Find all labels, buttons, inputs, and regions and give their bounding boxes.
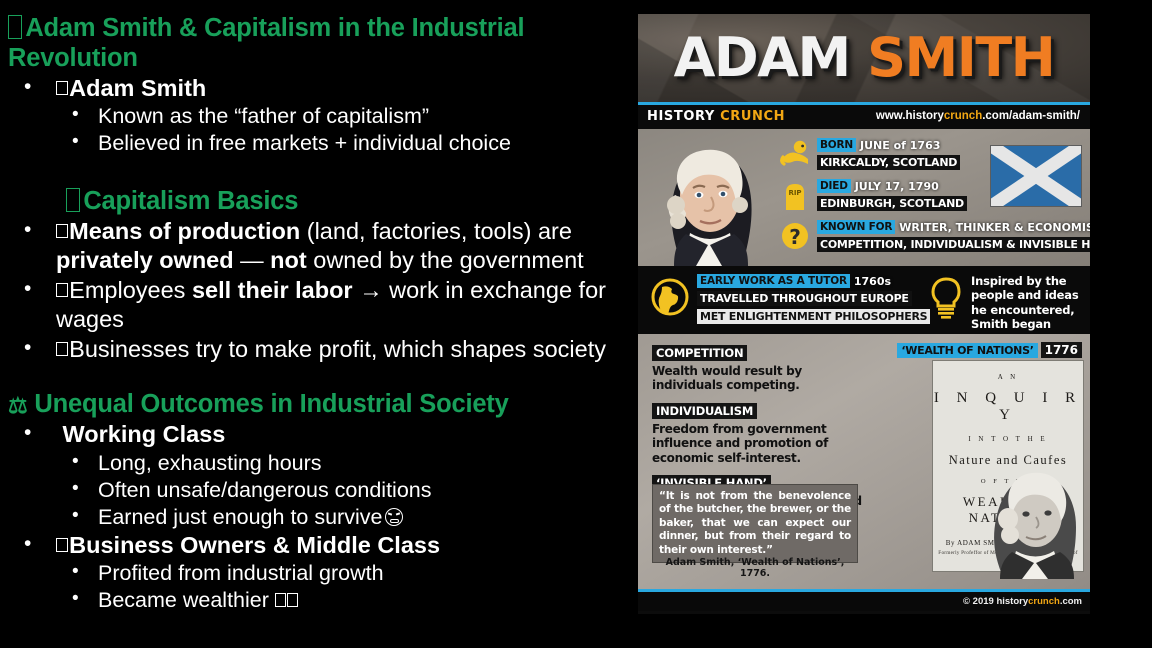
bullet-label: Businesses try to make profit, which sha… [69,336,606,362]
fact-born-tag: BORN [817,138,856,152]
bullet-marker: • [24,74,52,103]
book-year-tag: 1776 [1041,342,1082,358]
bullet-label: Became wealthier [98,588,269,612]
fact-known-tag: KNOWN FOR [817,220,895,234]
url-accent: crunch [944,110,982,122]
missing-glyph-icon [66,188,80,212]
slide-root: Adam Smith & Capitalism in the Industria… [0,0,1152,648]
bullet-level1: • Employees sell their labor → work in e… [24,276,608,335]
infographic-footer: © 2019 historycrunch.com [638,589,1090,611]
section-heading-2: Capitalism Basics [8,187,608,217]
bullet-label: Working Class [63,421,226,447]
fact-known-for: ? KNOWN FOR WRITER, THINKER & ECONOMIST … [778,219,986,253]
fact-known-lines: KNOWN FOR WRITER, THINKER & ECONOMIST CO… [817,219,1090,253]
fact-born-lines: BORN JUNE of 1763 KIRKCALDY, SCOTLAND [817,137,986,171]
bullet-text: Businesses try to make profit, which sha… [52,335,608,364]
adam-smith-portrait [642,133,774,266]
book-inquiry: I N Q U I R Y [933,390,1083,424]
dizzy-face-emoji [385,508,403,526]
early-work-line3-wrap: MET ENLIGHTENMENT PHILOSOPHERS [697,307,915,325]
bullet-label: Believed in free markets + individual ch… [98,130,608,157]
fact-died-lines: DIED JULY 17, 1790 EDINBURGH, SCOTLAND [817,178,986,212]
bullet-level1: • Businesses try to make profit, which s… [24,335,608,364]
missing-glyph-icon [56,283,68,298]
bullet-text: Adam Smith [52,74,608,103]
spacer [8,157,608,187]
bullet-marker: • [24,276,52,335]
infographic-title: ADAM SMITH [638,14,1090,102]
title-word-orange: SMITH [867,26,1054,89]
bullet-label: Known as the “father of capitalism” [98,103,608,130]
missing-glyph-icon [56,81,68,96]
early-work-band: EARLY WORK AS A TUTOR 1760s TRAVELLED TH… [638,266,1090,334]
bullet-level1: • Adam Smith [24,74,608,103]
early-work-line2: TRAVELLED THROUGHOUT EUROPE [697,291,912,306]
adam-smith-engraving [964,461,1084,579]
bullet-level2-clipped: • Became wealthier [72,587,608,614]
book-an: A N [933,373,1083,381]
fact-known-detail: COMPETITION, INDIVIDUALISM & INVISIBLE H… [817,237,1090,252]
bullet-marker: • [72,560,98,587]
early-work-line3: MET ENLIGHTENMENT PHILOSOPHERS [697,309,930,324]
missing-glyph-icon [56,342,68,357]
fact-born-detail: KIRKCALDY, SCOTLAND [817,155,960,170]
early-work-row: EARLY WORK AS A TUTOR 1760s [697,274,915,288]
infographic-title-band: ADAM SMITH [638,14,1090,102]
bullet-level2: • Believed in free markets + individual … [72,130,608,157]
bullet-text: Became wealthier [98,587,608,614]
quote-attribution: Adam Smith, ‘Wealth of Nations’, 1776. [652,557,858,579]
bullet-level2: • Known as the “father of capitalism” [72,103,608,130]
brand-second: CRUNCH [720,109,785,124]
question-mark-icon: ? [778,219,812,253]
section-heading-1-label: Adam Smith & Capitalism in the Industria… [8,14,524,72]
bullet-text: Employees sell their labor → work in exc… [52,276,608,335]
bullet-marker: • [24,217,52,276]
early-work-lines: EARLY WORK AS A TUTOR 1760s TRAVELLED TH… [697,274,915,325]
bullet-label: Profited from industrial growth [98,560,608,587]
missing-glyph-icon [8,15,22,39]
missing-glyph-icon [56,224,68,239]
book-title-tag: ‘WEALTH OF NATIONS’ [897,343,1037,358]
fact-died-tag: DIED [817,179,851,193]
bullet-level2: • Profited from industrial growth [72,560,608,587]
copyright-suffix: .com [1060,596,1082,607]
section-heading-1: Adam Smith & Capitalism in the Industria… [8,14,608,74]
bullet-label: Means of production (land, factories, to… [56,218,584,273]
bullet-text: Working Class [52,420,608,449]
spacer [8,364,608,390]
bullet-level2: • Often unsafe/dangerous conditions [72,477,608,504]
bullet-text: Business Owners & Middle Class [52,531,608,560]
svg-text:?: ? [789,225,801,249]
ideas-band: COMPETITION Wealth would result by indiv… [638,334,1090,589]
book-into-the: I N T O T H E [933,435,1083,443]
fact-born-row: BORN JUNE of 1763 [817,138,986,152]
globe-icon [650,277,690,317]
bullet-marker: • [24,335,52,364]
source-url: www.historycrunch.com/adam-smith/ [876,110,1080,122]
fact-known-value: WRITER, THINKER & ECONOMIST [899,221,1090,234]
bullet-level1: • Business Owners & Middle Class [24,531,608,560]
url-prefix: www.history [876,110,944,122]
bullet-label: Often unsafe/dangerous conditions [98,477,608,504]
bullet-text: Earned just enough to survive [98,504,608,531]
missing-glyph-icon [275,593,286,606]
concept-individualism-body: Freedom from government influence and pr… [652,422,872,465]
section-heading-3: ⚖ Unequal Outcomes in Industrial Society [8,390,608,420]
bullet-marker: • [72,103,98,130]
concept-individualism: INDIVIDUALISM Freedom from government in… [652,402,872,465]
brand-first: HISTORY [647,109,715,124]
facts-list: BORN JUNE of 1763 KIRKCALDY, SCOTLAND RI… [778,137,986,260]
biography-band: BORN JUNE of 1763 KIRKCALDY, SCOTLAND RI… [638,129,1090,266]
bullet-level1: • Working Class [24,420,608,449]
bullet-level2: • Long, exhausting hours [72,450,608,477]
missing-glyph-icon [56,538,68,553]
bullet-level2: • Earned just enough to survive [72,504,608,531]
fact-died: RIP DIED JULY 17, 1790 EDINBURGH, SCOTLA… [778,178,986,212]
bullet-marker: • [72,587,98,614]
fact-known-row: KNOWN FOR WRITER, THINKER & ECONOMIST [817,220,1090,234]
early-work-line2-wrap: TRAVELLED THROUGHOUT EUROPE [697,289,915,307]
baby-icon [778,137,812,171]
infographic-image: ADAM SMITH HISTORY CRUNCH www.historycru… [638,14,1090,614]
emoji-mouth [390,519,399,523]
bullet-text: Means of production (land, factories, to… [52,217,608,276]
fact-born-value: JUNE of 1763 [860,139,940,152]
scotland-flag-icon [990,145,1082,207]
url-suffix: .com/adam-smith/ [982,110,1080,122]
brand-bar: HISTORY CRUNCH www.historycrunch.com/ada… [638,105,1090,129]
bullet-label: Long, exhausting hours [98,450,608,477]
scales-icon: ⚖ [8,393,28,418]
slide-text-column: Adam Smith & Capitalism in the Industria… [0,0,614,648]
book-tag: ‘WEALTH OF NATIONS’ 1776 [897,342,1082,358]
title-word-white: ADAM [674,26,850,89]
early-work-tag: EARLY WORK AS A TUTOR [697,274,850,288]
bullet-marker: • [72,504,98,531]
lightbulb-icon [929,276,963,320]
quote-box: “It is not from the benevolence of the b… [652,484,858,563]
section-heading-2-label: Capitalism Basics [83,187,298,215]
bullet-label: Adam Smith [69,75,206,101]
bullet-marker: • [72,130,98,157]
copyright-accent: crunch [1028,596,1060,607]
copyright-text: © 2019 historycrunch.com [963,596,1082,607]
early-work-decade: 1760s [854,275,891,288]
concept-competition-label: COMPETITION [652,345,747,361]
brand-logo: HISTORY CRUNCH [647,109,785,124]
bullet-marker: • [72,477,98,504]
quote-text: “It is not from the benevolence of the b… [659,490,851,557]
bullet-label: Earned just enough to survive [98,505,382,529]
concept-competition-body: Wealth would result by individuals compe… [652,364,872,393]
bullet-level1: • Means of production (land, factories, … [24,217,608,276]
tombstone-icon: RIP [778,178,812,212]
concept-competition: COMPETITION Wealth would result by indiv… [652,344,872,393]
bullet-marker: • [24,531,52,560]
svg-text:RIP: RIP [788,189,801,197]
concept-individualism-label: INDIVIDUALISM [652,403,757,419]
bullet-label: Employees sell their labor → work in exc… [56,277,606,332]
section-heading-3-label: Unequal Outcomes in Industrial Society [34,390,508,418]
bullet-label: Business Owners & Middle Class [69,532,440,558]
fact-died-value: JULY 17, 1790 [855,180,939,193]
copyright-prefix: © 2019 history [963,596,1028,607]
fact-died-detail: EDINBURGH, SCOTLAND [817,196,967,211]
bullet-marker: • [72,450,98,477]
bullet-marker: • [24,420,52,449]
fact-died-row: DIED JULY 17, 1790 [817,179,986,193]
fact-born: BORN JUNE of 1763 KIRKCALDY, SCOTLAND [778,137,986,171]
missing-glyph-icon [287,593,298,606]
